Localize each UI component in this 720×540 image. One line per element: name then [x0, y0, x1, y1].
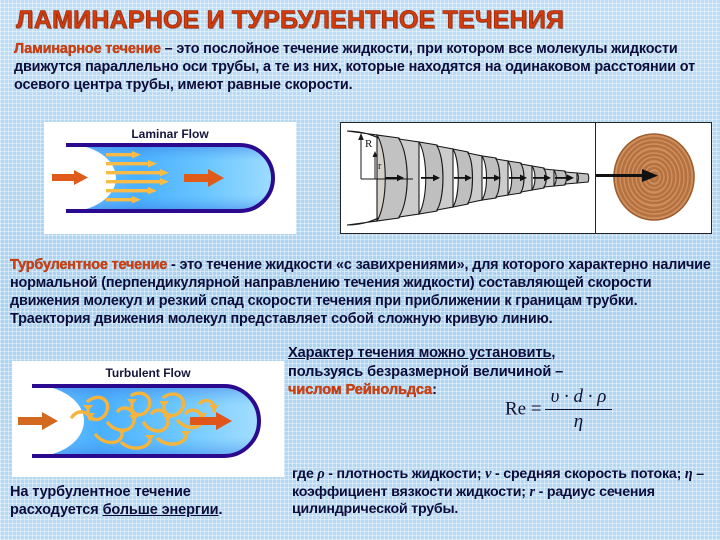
label-R-text: R	[365, 138, 373, 150]
turbulent-paragraph: Турбулентное течение - это течение жидко…	[10, 256, 718, 328]
turbulent-flow-diagram	[12, 361, 284, 477]
figure-turbulent-flow: Turbulent Flow	[12, 361, 284, 477]
legend-symbol-rho: ρ	[317, 466, 324, 482]
energy-note-tail: .	[218, 502, 222, 518]
turbulent-term: Турбулентное течение	[10, 257, 167, 273]
symbol-legend: где ρ - плотность жидкости; v - средняя …	[292, 466, 716, 519]
legend-prefix: где	[292, 466, 317, 482]
reynolds-line1: Характер течения можно установить	[288, 345, 551, 361]
page-title: ЛАМИНАРНОЕ И ТУРБУЛЕНТНОЕ ТЕЧЕНИЯ	[16, 6, 710, 35]
formula-denominator: η	[545, 410, 613, 433]
energy-note-underlined: больше энергии	[103, 502, 219, 518]
formula-lhs: Re =	[505, 399, 542, 420]
telescoping-cylinders-diagram: R r	[341, 123, 594, 232]
reynolds-formula: Re =υ · d · ρη	[505, 386, 612, 433]
formula-numerator: υ · d · ρ	[545, 386, 613, 410]
laminar-flow-diagram	[44, 122, 296, 234]
energy-note-line2-pre: расходуется	[10, 502, 103, 518]
reynolds-line1-tail: ,	[551, 345, 555, 361]
energy-note: На турбулентное течение расходуется боль…	[10, 483, 288, 519]
reynolds-line2: пользуясь безразмерной величиной –	[288, 364, 563, 380]
figure-telescoping-cylinders: R r	[340, 122, 596, 234]
figure-laminar-flow: Laminar Flow	[44, 122, 296, 234]
slide-canvas: ЛАМИНАРНОЕ И ТУРБУЛЕНТНОЕ ТЕЧЕНИЯ Ламина…	[0, 0, 720, 540]
laminar-paragraph: Ламинарное течение – это послойное течен…	[14, 40, 714, 94]
legend-rho-desc: - плотность жидкости;	[325, 466, 486, 482]
legend-v-desc: - средняя скорость потока;	[491, 466, 685, 482]
energy-note-line1: На турбулентное течение	[10, 484, 191, 500]
reynolds-text-block: Характер течения можно установить, польз…	[288, 344, 708, 400]
reynolds-term-tail: :	[432, 382, 437, 398]
concentric-rings-diagram	[596, 123, 709, 232]
laminar-term: Ламинарное течение	[14, 41, 161, 57]
reynolds-term: числом Рейнольдса	[288, 382, 432, 398]
formula-fraction: υ · d · ρη	[545, 386, 613, 433]
figure-concentric-rings	[596, 122, 712, 234]
